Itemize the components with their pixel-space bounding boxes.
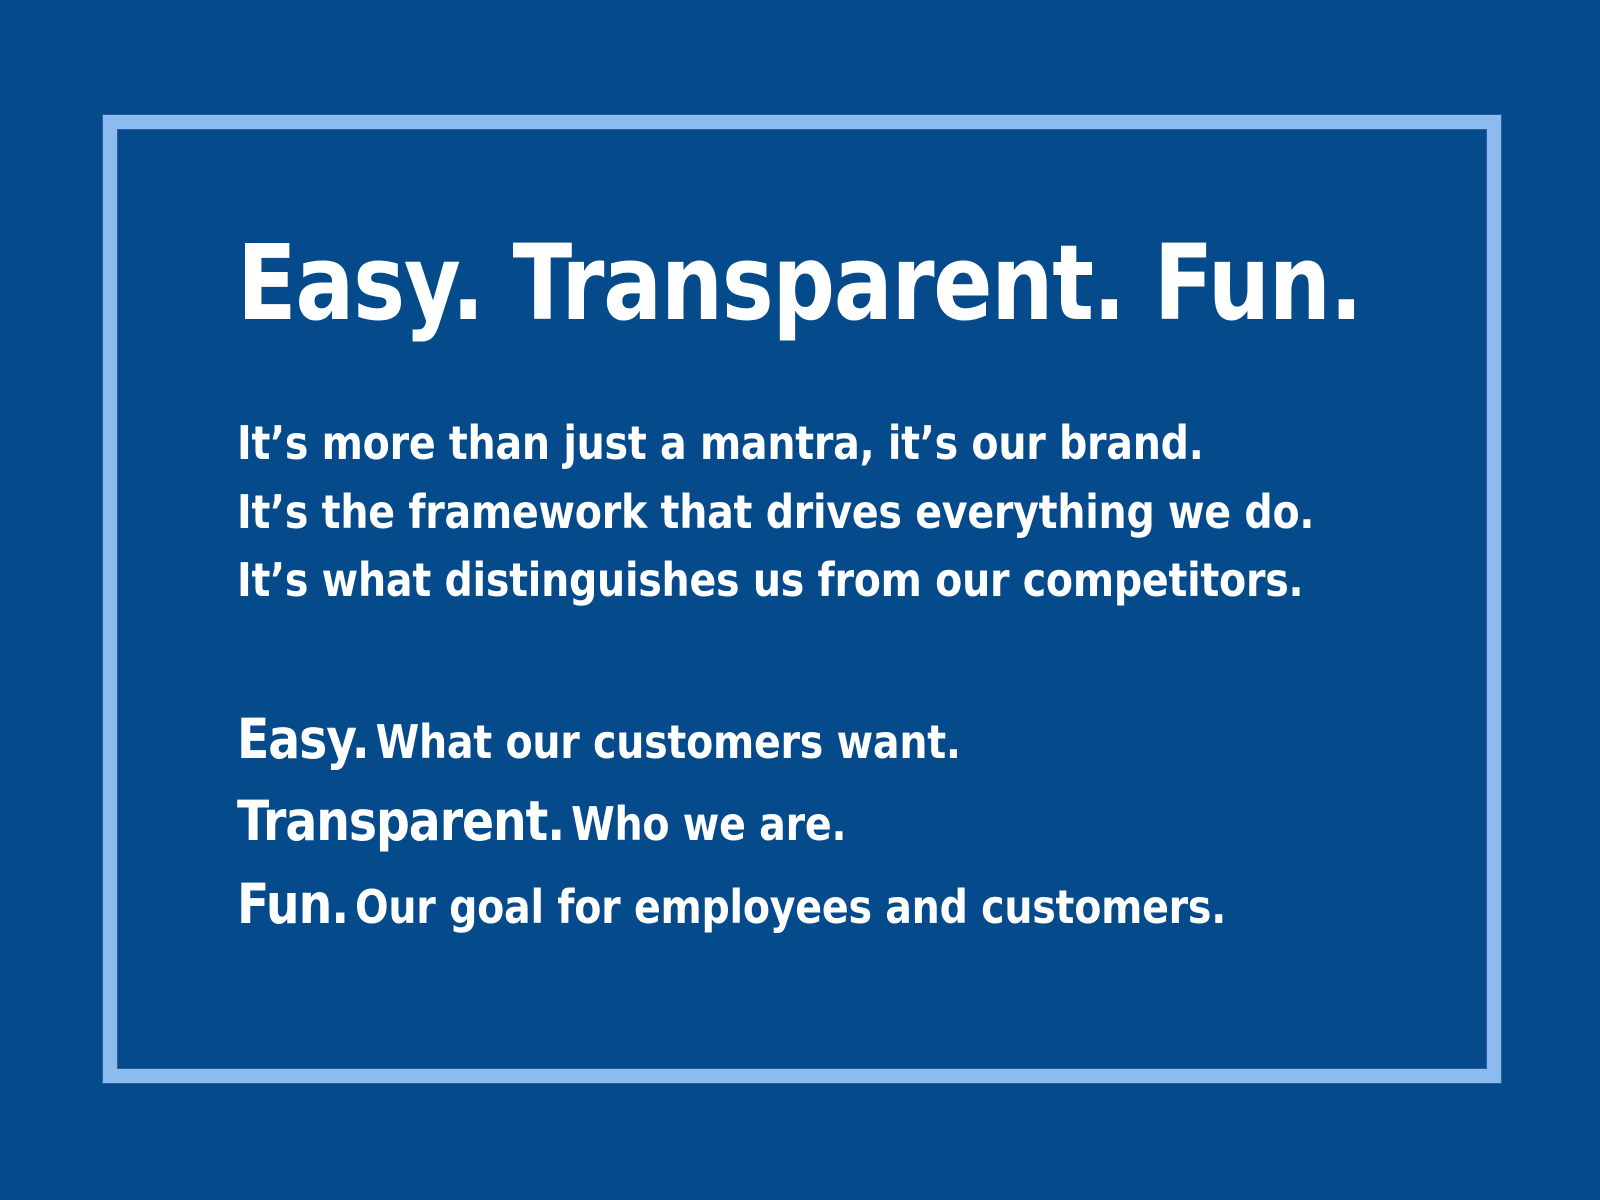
slide-content: Easy. Transparent. Fun. It’s more than j… <box>237 225 1437 945</box>
pillar-term: Transparent. <box>237 789 564 853</box>
pillar-item-easy: Easy.What our customers want. <box>237 698 1269 781</box>
pillar-item-transparent: Transparent.Who we are. <box>237 780 1269 863</box>
pillar-item-fun: Fun.Our goal for employees and customers… <box>237 863 1269 946</box>
pillar-description: Our goal for employees and customers. <box>348 880 1226 934</box>
pillar-description: Who we are. <box>564 797 846 851</box>
pillar-term: Fun. <box>237 872 348 936</box>
intro-line: It’s what distinguishes us from our comp… <box>237 546 1269 614</box>
pillar-list: Easy.What our customers want. Transparen… <box>237 698 1437 946</box>
pillar-description: What our customers want. <box>369 715 961 769</box>
intro-line: It’s the framework that drives everythin… <box>237 478 1269 546</box>
page-title: Easy. Transparent. Fun. <box>237 225 1245 341</box>
pillar-term: Easy. <box>237 707 369 771</box>
intro-paragraph: It’s more than just a mantra, it’s our b… <box>237 409 1437 613</box>
slide-canvas: Easy. Transparent. Fun. It’s more than j… <box>0 0 1600 1200</box>
intro-line: It’s more than just a mantra, it’s our b… <box>237 409 1269 477</box>
